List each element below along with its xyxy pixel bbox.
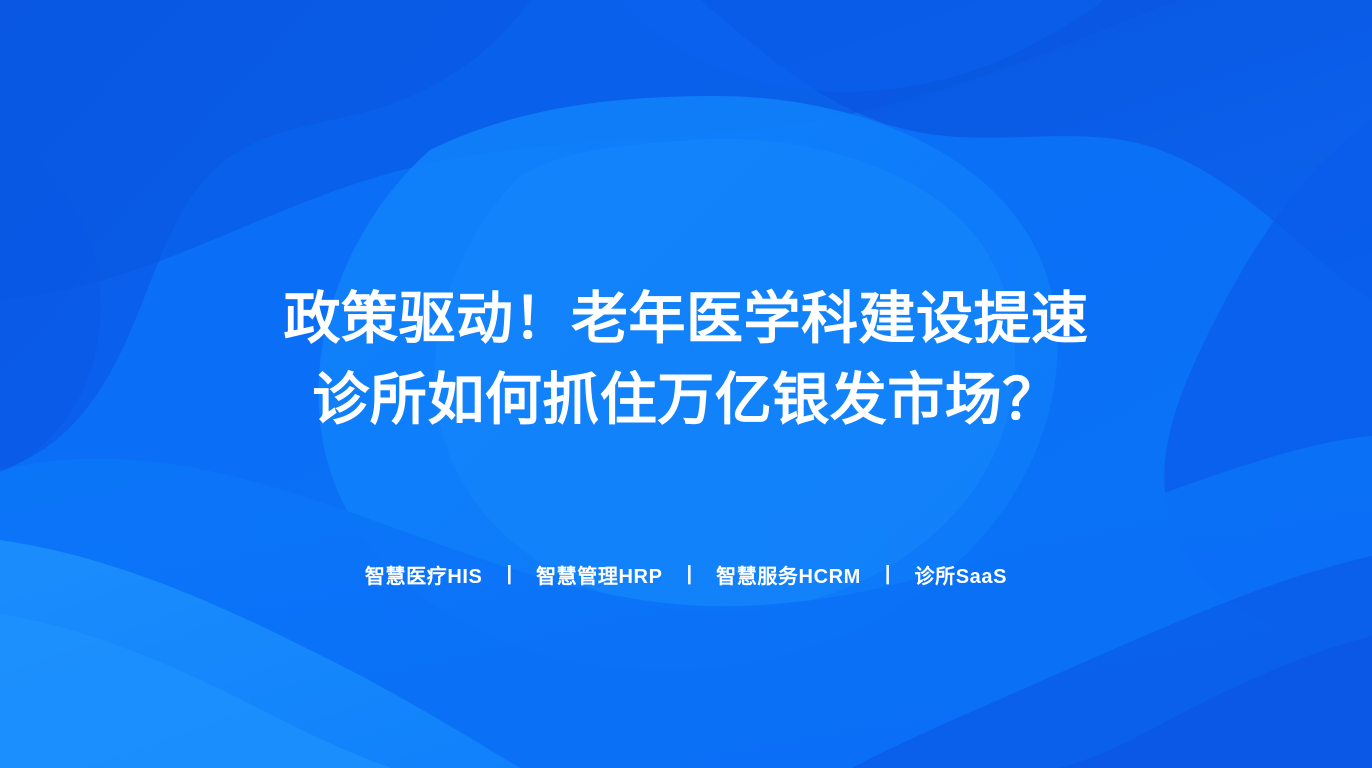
product-tag-saas: 诊所SaaS <box>915 560 1008 589</box>
product-tag-his: 智慧医疗HIS <box>365 560 483 589</box>
tagline-separator-1: | <box>482 563 536 586</box>
headline-line-2: 诊所如何抓住万亿银发市场？ <box>0 360 1372 441</box>
headline-line-1: 政策驱动！老年医学科建设提速 <box>0 279 1372 360</box>
tagline-separator-3: | <box>861 563 915 586</box>
slide-content: 政策驱动！老年医学科建设提速 诊所如何抓住万亿银发市场？ 智慧医疗HIS | 智… <box>0 0 1372 768</box>
promo-banner-slide: 政策驱动！老年医学科建设提速 诊所如何抓住万亿银发市场？ 智慧医疗HIS | 智… <box>0 0 1372 768</box>
product-tag-hrp: 智慧管理HRP <box>536 560 662 589</box>
product-tag-hcrm: 智慧服务HCRM <box>716 560 861 589</box>
headline-block: 政策驱动！老年医学科建设提速 诊所如何抓住万亿银发市场？ <box>0 279 1372 441</box>
product-tagline-bar: 智慧医疗HIS | 智慧管理HRP | 智慧服务HCRM | 诊所SaaS <box>0 560 1372 589</box>
tagline-separator-2: | <box>663 563 717 586</box>
